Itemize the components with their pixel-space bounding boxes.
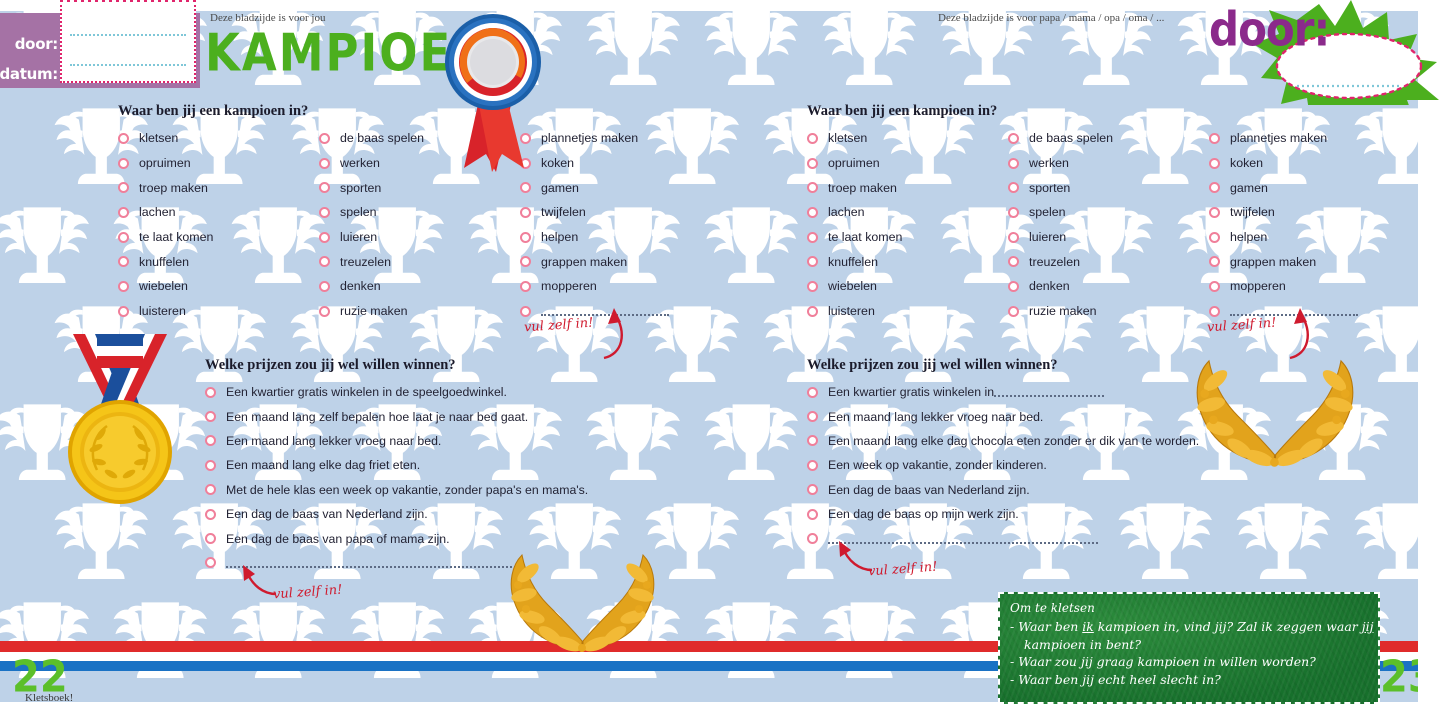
left-options-column-2: de baas spelenwerkensportenspelenluieren…	[319, 126, 424, 324]
trophy-motif	[1341, 494, 1418, 595]
option-label: troep maken	[139, 181, 208, 195]
chalkboard-tips: Om te kletsen - Waar ben ik kampioen in,…	[998, 592, 1380, 704]
checkbox-circle-icon[interactable]	[205, 509, 216, 520]
checkbox-circle-icon[interactable]	[807, 256, 818, 267]
checkbox-circle-icon[interactable]	[807, 460, 818, 471]
checkbox-circle-icon[interactable]	[807, 281, 818, 292]
option-label: de baas spelen	[1029, 131, 1113, 145]
checkbox-option[interactable]: Een maand lang elke dag chocola eten zon…	[807, 429, 1199, 453]
trophy-motif	[1105, 99, 1226, 200]
laurel-wreath-right	[1185, 345, 1365, 475]
option-label: werken	[340, 156, 380, 170]
option-label: kletsen	[828, 131, 867, 145]
option-label: gamen	[541, 181, 579, 195]
option-label: koken	[1230, 156, 1263, 170]
option-label: sporten	[340, 181, 381, 195]
checkbox-circle-icon[interactable]	[118, 281, 129, 292]
trophy-motif	[1223, 494, 1344, 595]
right-prize-options: Een kwartier gratis winkelen in Een maan…	[807, 380, 1199, 551]
checkbox-option[interactable]: treuzelen	[1008, 249, 1113, 274]
checkbox-circle-icon[interactable]	[1008, 133, 1019, 144]
checkbox-option[interactable]: sporten	[1008, 175, 1113, 200]
trophy-motif	[573, 10, 694, 101]
checkbox-option[interactable]: Een week op vakantie, zonder kinderen.	[807, 453, 1199, 477]
checkbox-circle-icon[interactable]	[1209, 133, 1220, 144]
chalkboard-line-2: kampioen in bent?	[1010, 636, 1368, 654]
checkbox-circle-icon[interactable]	[520, 256, 531, 267]
checkbox-circle-icon[interactable]	[205, 460, 216, 471]
checkbox-circle-icon[interactable]	[1209, 281, 1220, 292]
option-label: Een dag de baas op mijn werk zijn.	[828, 507, 1019, 521]
option-label: Een maand lang zelf bepalen hoe laat je …	[226, 410, 528, 424]
checkbox-circle-icon[interactable]	[520, 207, 531, 218]
checkbox-option[interactable]: grappen maken	[1209, 249, 1358, 274]
right-question-1: Waar ben jij een kampioen in?	[807, 103, 997, 120]
option-label: gamen	[1230, 181, 1268, 195]
chalkboard-line-3: - Waar zou jij graag kampioen in willen …	[1010, 653, 1368, 671]
checkbox-option[interactable]: de baas spelen	[1008, 126, 1113, 151]
checkbox-option[interactable]: Een maand lang lekker vroeg naar bed.	[807, 404, 1199, 428]
option-label: spelen	[1029, 205, 1066, 219]
option-label: kletsen	[139, 131, 178, 145]
checkbox-circle-icon[interactable]	[319, 133, 330, 144]
checkbox-option[interactable]: gamen	[1209, 175, 1358, 200]
checkbox-option[interactable]: mopperen	[520, 274, 669, 299]
checkbox-circle-icon[interactable]	[118, 158, 129, 169]
option-label: te laat komen	[828, 230, 902, 244]
checkbox-option[interactable]: twijfelen	[1209, 200, 1358, 225]
checkbox-option[interactable]: helpen	[520, 225, 669, 250]
option-label: ruzie maken	[1029, 304, 1097, 318]
option-label: Een week op vakantie, zonder kinderen.	[828, 458, 1047, 472]
checkbox-option[interactable]: kletsen	[807, 126, 902, 151]
option-label: opruimen	[828, 156, 880, 170]
option-label: luisteren	[828, 304, 875, 318]
option-label: luieren	[1029, 230, 1066, 244]
checkbox-circle-icon[interactable]	[118, 256, 129, 267]
option-label: knuffelen	[828, 255, 878, 269]
door-burst: door:	[1201, 0, 1441, 105]
left-question-1: Waar ben jij een kampioen in?	[118, 103, 308, 120]
option-label: treuzelen	[1029, 255, 1080, 269]
option-label: Een dag de baas van Nederland zijn.	[828, 483, 1030, 497]
option-label: denken	[340, 279, 381, 293]
checkbox-circle-icon[interactable]	[319, 256, 330, 267]
option-label: Een maand lang elke dag friet eten.	[226, 458, 420, 472]
option-label: Met de hele klas een week op vakantie, z…	[226, 483, 588, 497]
checkbox-option[interactable]: denken	[319, 274, 424, 299]
chalkboard-title: Om te kletsen	[1010, 600, 1368, 617]
checkbox-circle-icon[interactable]	[205, 387, 216, 398]
checkbox-option[interactable]: te laat komen	[807, 225, 902, 250]
checkbox-circle-icon[interactable]	[807, 232, 818, 243]
checkbox-option[interactable]: plannetjes maken	[1209, 126, 1358, 151]
right-options-column-2: de baas spelenwerkensportenspelenluieren…	[1008, 126, 1113, 324]
checkbox-circle-icon[interactable]	[118, 207, 129, 218]
checkbox-option[interactable]: ruzie maken	[319, 299, 424, 324]
option-label: luisteren	[139, 304, 186, 318]
checkbox-circle-icon[interactable]	[1008, 158, 1019, 169]
checkbox-option[interactable]: koken	[1209, 151, 1358, 176]
right-question-2: Welke prijzen zou jij wel willen winnen?	[807, 357, 1058, 374]
option-label: lachen	[139, 205, 176, 219]
checkbox-option[interactable]: spelen	[1008, 200, 1113, 225]
checkbox-circle-icon[interactable]	[807, 133, 818, 144]
stamp-write-area[interactable]	[60, 0, 196, 83]
left-hint-arrow-2	[238, 562, 282, 602]
option-label: treuzelen	[340, 255, 391, 269]
checkbox-circle-icon[interactable]	[520, 306, 531, 317]
checkbox-option[interactable]: wiebelen	[807, 274, 902, 299]
checkbox-circle-icon[interactable]	[807, 207, 818, 218]
option-label: wiebelen	[828, 279, 877, 293]
option-label: te laat komen	[139, 230, 213, 244]
checkbox-option[interactable]: Met de hele klas een week op vakantie, z…	[205, 478, 588, 502]
chalkboard-line-1: - Waar ben ik kampioen in, vind jij? Zal…	[1010, 618, 1368, 636]
checkbox-option[interactable]: spelen	[319, 200, 424, 225]
checkbox-circle-icon[interactable]	[1209, 306, 1220, 317]
checkbox-circle-icon[interactable]	[1008, 256, 1019, 267]
checkbox-option[interactable]: opruimen	[118, 151, 213, 176]
option-label: spelen	[340, 205, 377, 219]
right-options-column-1: kletsenopruimentroep makenlachente laat …	[807, 126, 902, 324]
option-label: plannetjes maken	[1230, 131, 1327, 145]
right-margin	[1418, 0, 1445, 724]
checkbox-circle-icon[interactable]	[807, 509, 818, 520]
checkbox-circle-icon[interactable]	[1008, 306, 1019, 317]
checkbox-circle-icon[interactable]	[807, 306, 818, 317]
checkbox-option[interactable]: Een maand lang elke dag friet eten.	[205, 453, 588, 477]
left-question-2: Welke prijzen zou jij wel willen winnen?	[205, 357, 456, 374]
checkbox-circle-icon[interactable]	[1209, 158, 1220, 169]
option-label: luieren	[340, 230, 377, 244]
checkbox-circle-icon[interactable]	[319, 281, 330, 292]
checkbox-option[interactable]: te laat komen	[118, 225, 213, 250]
checkbox-option[interactable]: Een kwartier gratis winkelen in	[807, 380, 1199, 404]
checkbox-circle-icon[interactable]	[807, 182, 818, 193]
award-rosette	[420, 0, 570, 180]
chalkboard-line-4: - Waar ben jij echt heel slecht in?	[1010, 671, 1368, 689]
checkbox-option[interactable]: knuffelen	[807, 249, 902, 274]
right-options-column-3: plannetjes makenkokengamentwijfelenhelpe…	[1209, 126, 1358, 324]
checkbox-circle-icon[interactable]	[205, 533, 216, 544]
left-hint-arrow-1	[592, 306, 642, 364]
checkbox-circle-icon[interactable]	[807, 387, 818, 398]
caption-right: Deze bladzijde is voor papa / mama / opa…	[938, 12, 1164, 24]
checkbox-option[interactable]: ruzie maken	[1008, 299, 1113, 324]
left-options-column-1: kletsenopruimentroep makenlachente laat …	[118, 126, 213, 324]
checkbox-circle-icon[interactable]	[1209, 232, 1220, 243]
checkbox-circle-icon[interactable]	[118, 182, 129, 193]
checkbox-option[interactable]: luieren	[1008, 225, 1113, 250]
checkbox-circle-icon[interactable]	[807, 158, 818, 169]
trophy-motif	[809, 10, 930, 101]
checkbox-circle-icon[interactable]	[205, 435, 216, 446]
checkbox-circle-icon[interactable]	[319, 207, 330, 218]
checkbox-option[interactable]: denken	[1008, 274, 1113, 299]
option-label: werken	[1029, 156, 1069, 170]
option-label: lachen	[828, 205, 865, 219]
door-label: door:	[15, 35, 58, 53]
option-label: helpen	[1230, 230, 1267, 244]
option-label: twijfelen	[541, 205, 586, 219]
trophy-motif	[691, 10, 812, 101]
option-label: denken	[1029, 279, 1070, 293]
trophy-motif	[0, 198, 103, 299]
checkbox-circle-icon[interactable]	[319, 306, 330, 317]
right-hint-arrow-2	[834, 538, 878, 578]
checkbox-option[interactable]: Een dag de baas van Nederland zijn.	[205, 502, 588, 526]
option-label: Een maand lang lekker vroeg naar bed.	[226, 434, 441, 448]
checkbox-option[interactable]: werken	[1008, 151, 1113, 176]
checkbox-option[interactable]: troep maken	[807, 175, 902, 200]
checkbox-circle-icon[interactable]	[319, 232, 330, 243]
checkbox-circle-icon[interactable]	[807, 484, 818, 495]
laurel-wreath-center	[500, 545, 665, 655]
option-label: helpen	[541, 230, 578, 244]
option-label: mopperen	[541, 279, 597, 293]
checkbox-option[interactable]: de baas spelen	[319, 126, 424, 151]
checkbox-option[interactable]: sporten	[319, 175, 424, 200]
checkbox-circle-icon[interactable]	[1209, 182, 1220, 193]
checkbox-option[interactable]: mopperen	[1209, 274, 1358, 299]
option-label: Een kwartier gratis winkelen in	[828, 385, 994, 399]
trophy-motif	[691, 395, 812, 496]
option-label: wiebelen	[139, 279, 188, 293]
checkbox-option[interactable]: luisteren	[807, 299, 902, 324]
option-label: de baas spelen	[340, 131, 424, 145]
checkbox-circle-icon[interactable]	[807, 435, 818, 446]
checkbox-option[interactable]: lachen	[118, 200, 213, 225]
checkbox-option[interactable]: opruimen	[807, 151, 902, 176]
checkbox-option[interactable]: troep maken	[118, 175, 213, 200]
checkbox-option[interactable]: werken	[319, 151, 424, 176]
checkbox-option[interactable]: luieren	[319, 225, 424, 250]
option-label: grappen maken	[541, 255, 627, 269]
checkbox-option[interactable]: wiebelen	[118, 274, 213, 299]
right-hint-arrow-1	[1278, 306, 1328, 364]
checkbox-option[interactable]: grappen maken	[520, 249, 669, 274]
bottom-margin	[0, 702, 1445, 724]
option-label: Een maand lang elke dag chocola eten zon…	[828, 434, 1199, 448]
checkbox-option[interactable]: luisteren	[118, 299, 213, 324]
kletsboek-spread: door: datum: KAMPIOEN Deze bladzijde is …	[0, 0, 1445, 724]
option-label: grappen maken	[1230, 255, 1316, 269]
checkbox-circle-icon[interactable]	[520, 281, 531, 292]
checkbox-circle-icon[interactable]	[520, 182, 531, 193]
option-label: opruimen	[139, 156, 191, 170]
checkbox-circle-icon[interactable]	[1008, 281, 1019, 292]
checkbox-option[interactable]: knuffelen	[118, 249, 213, 274]
option-label: Een dag de baas van Nederland zijn.	[226, 507, 428, 521]
datum-write-line[interactable]	[70, 64, 186, 66]
checkbox-option[interactable]: Een dag de baas op mijn werk zijn.	[807, 502, 1199, 526]
checkbox-circle-icon[interactable]	[807, 533, 818, 544]
checkbox-option[interactable]: Een maand lang zelf bepalen hoe laat je …	[205, 404, 588, 428]
checkbox-option[interactable]: Een kwartier gratis winkelen in de speel…	[205, 380, 588, 404]
checkbox-circle-icon[interactable]	[118, 232, 129, 243]
checkbox-circle-icon[interactable]	[1008, 207, 1019, 218]
datum-label: datum:	[0, 65, 58, 83]
gold-medal	[55, 330, 185, 515]
option-label: twijfelen	[1230, 205, 1275, 219]
checkbox-circle-icon[interactable]	[205, 484, 216, 495]
checkbox-circle-icon[interactable]	[118, 133, 129, 144]
checkbox-circle-icon[interactable]	[205, 411, 216, 422]
option-label: Een maand lang lekker vroeg naar bed.	[828, 410, 1043, 424]
checkbox-circle-icon[interactable]	[1008, 182, 1019, 193]
checkbox-circle-icon[interactable]	[807, 411, 818, 422]
checkbox-option[interactable]: Een dag de baas van Nederland zijn.	[807, 478, 1199, 502]
option-label: sporten	[1029, 181, 1070, 195]
door-write-line[interactable]	[70, 34, 186, 36]
door-burst-label: door:	[1209, 2, 1329, 57]
option-label: Een dag de baas van papa of mama zijn.	[226, 532, 450, 546]
caption-left: Deze bladzijde is voor jou	[210, 12, 325, 24]
option-label: ruzie maken	[340, 304, 408, 318]
option-label: Een kwartier gratis winkelen in de speel…	[226, 385, 507, 399]
checkbox-circle-icon[interactable]	[1008, 232, 1019, 243]
checkbox-option[interactable]: kletsen	[118, 126, 213, 151]
checkbox-option[interactable]: lachen	[807, 200, 902, 225]
checkbox-circle-icon[interactable]	[1209, 256, 1220, 267]
checkbox-circle-icon[interactable]	[118, 306, 129, 317]
write-in-line[interactable]	[994, 395, 1104, 397]
option-label: mopperen	[1230, 279, 1286, 293]
checkbox-circle-icon[interactable]	[1209, 207, 1220, 218]
trophy-motif	[573, 395, 694, 496]
checkbox-option[interactable]: twijfelen	[520, 200, 669, 225]
checkbox-circle-icon[interactable]	[319, 158, 330, 169]
option-label: troep maken	[828, 181, 897, 195]
checkbox-option[interactable]: Een maand lang lekker vroeg naar bed.	[205, 429, 588, 453]
checkbox-option[interactable]: helpen	[1209, 225, 1358, 250]
checkbox-circle-icon[interactable]	[520, 232, 531, 243]
checkbox-option[interactable]: treuzelen	[319, 249, 424, 274]
checkbox-circle-icon[interactable]	[205, 557, 216, 568]
checkbox-circle-icon[interactable]	[319, 182, 330, 193]
trophy-motif	[691, 198, 812, 299]
option-label: knuffelen	[139, 255, 189, 269]
